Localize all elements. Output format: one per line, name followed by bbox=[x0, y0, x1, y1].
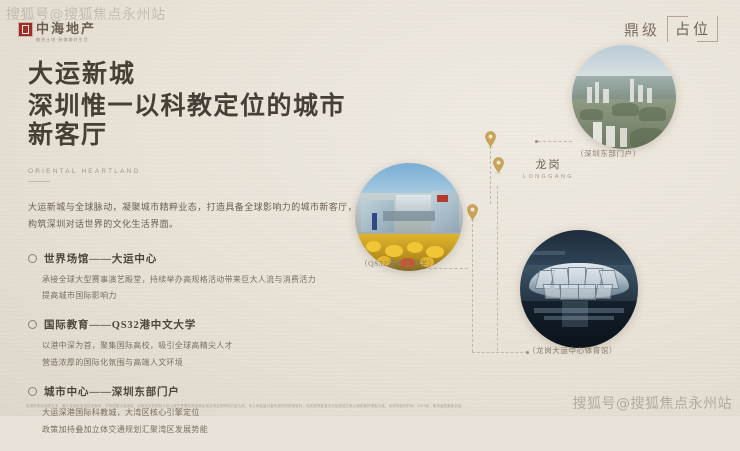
list-item: 世界场馆——大运中心 承接全球大型赛事演艺殿堂，持续举办高规格活动带来巨大人流与… bbox=[28, 251, 358, 305]
photo-caption: （深圳东部门户） bbox=[576, 148, 641, 159]
circle-bullet-icon bbox=[28, 320, 37, 329]
circle-bullet-icon bbox=[28, 387, 37, 396]
connector-line bbox=[497, 186, 498, 351]
hero-copy: 大运新城 深圳惟一以科教定位的城市新客厅 ORIENTAL HEARTLAND … bbox=[28, 60, 358, 451]
photo-caption: （QS32港中文大学） bbox=[360, 258, 436, 269]
list-item: 国际教育——QS32港中文大学 以港中深为首，聚集国际高校，吸引全球高精尖人才 … bbox=[28, 317, 358, 371]
eyebrow-prefix: 鼎级 bbox=[624, 19, 660, 40]
divider-rule bbox=[28, 181, 50, 182]
watermark-bottom: 搜狐号@搜狐焦点永州站 bbox=[573, 393, 733, 413]
hero-english-label: ORIENTAL HEARTLAND bbox=[28, 168, 358, 175]
china-overseas-logo-icon bbox=[19, 23, 32, 36]
map-pin-icon[interactable] bbox=[484, 131, 497, 148]
list-item-title: 世界场馆——大运中心 bbox=[44, 251, 157, 266]
list-item: 城市中心——深圳东部门户 大运深港国际科教城，大湾区核心引擎定位 政策加持叠加立… bbox=[28, 384, 358, 438]
connector-line bbox=[490, 146, 491, 204]
legal-disclaimer: 本资料所涉及的文字、图片及其他信息仅供参考，不构成要约或承诺，买卖双方的权利义务… bbox=[26, 404, 566, 409]
hero-lead: 大运新城与全球脉动，凝聚城市精粹业态，打造具备全球影响力的城市新客厅， 构筑深圳… bbox=[28, 199, 358, 234]
connector-line bbox=[472, 352, 528, 353]
aerial-city-view-photo bbox=[572, 45, 676, 149]
universiade-stadium-photo bbox=[520, 230, 638, 348]
connector-endpoint bbox=[535, 140, 538, 143]
list-item-title: 城市中心——深圳东部门户 bbox=[44, 384, 180, 399]
page-subtitle: 深圳惟一以科教定位的城市新客厅 bbox=[28, 92, 358, 151]
list-item-desc-1: 以港中深为首，聚集国际高校，吸引全球高精尖人才 bbox=[42, 338, 358, 354]
eyebrow-boxed: 占位 bbox=[667, 16, 718, 42]
feature-list: 世界场馆——大运中心 承接全球大型赛事演艺殿堂，持续举办高规格活动带来巨大人流与… bbox=[28, 251, 358, 438]
brand-tagline: 敬畏土地·致敬美好生活 bbox=[36, 38, 93, 42]
map-pin-icon[interactable] bbox=[492, 157, 505, 174]
map-pin-icon[interactable] bbox=[466, 204, 479, 221]
region-name-en: LONGGANG bbox=[523, 174, 574, 180]
connector-line bbox=[538, 141, 572, 142]
brand-name: 中海地产 bbox=[36, 22, 96, 35]
hero-lead-line2: 构筑深圳对话世界的文化生活界面。 bbox=[28, 216, 358, 234]
slide-canvas: 搜狐号@搜狐焦点永州站 搜狐号@搜狐焦点永州站 中海地产 敬畏土地·致敬美好生活… bbox=[0, 0, 740, 416]
list-item-desc-2: 营造浓厚的国际化氛围与高端人文环境 bbox=[42, 355, 358, 371]
region-name-cn: 龙岗 bbox=[523, 156, 574, 172]
list-item-title: 国际教育——QS32港中文大学 bbox=[44, 317, 196, 332]
list-item-desc-1: 承接全球大型赛事演艺殿堂，持续举办高规格活动带来巨大人流与消费活力 bbox=[42, 272, 358, 288]
circle-bullet-icon bbox=[28, 254, 37, 263]
list-item-desc-2: 政策加持叠加立体交通规划汇聚湾区发展势能 bbox=[42, 422, 358, 438]
page-title: 大运新城 bbox=[28, 60, 358, 90]
region-label: 龙岗 LONGGANG bbox=[523, 156, 574, 180]
list-item-desc-2: 提高城市国际影响力 bbox=[42, 288, 358, 304]
university-campus-photo bbox=[355, 163, 463, 271]
photo-caption: （龙岗大运中心体育馆） bbox=[528, 345, 617, 356]
connector-line bbox=[472, 219, 473, 352]
hero-lead-line1: 大运新城与全球脉动，凝聚城市精粹业态，打造具备全球影响力的城市新客厅， bbox=[28, 199, 358, 217]
brand-logo: 中海地产 敬畏土地·致敬美好生活 bbox=[19, 22, 96, 42]
eyebrow: 鼎级 占位 bbox=[624, 16, 718, 42]
